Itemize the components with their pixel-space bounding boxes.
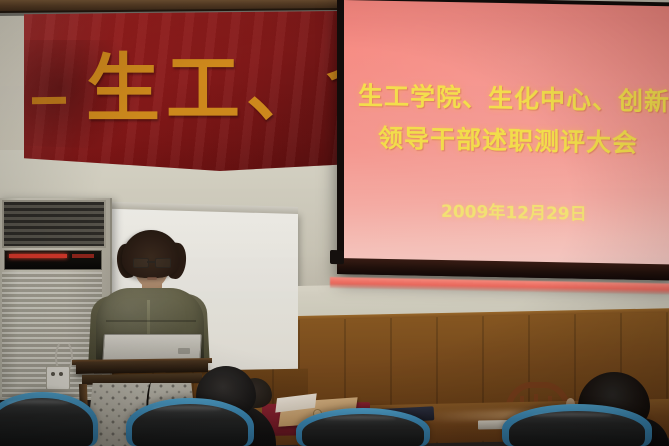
socket-hole xyxy=(51,372,55,376)
wooden-lectern xyxy=(76,360,208,374)
socket-hole xyxy=(59,372,63,376)
speaker-hair xyxy=(122,230,180,278)
auditorium-seat[interactable] xyxy=(126,398,254,446)
eyeglasses-icon xyxy=(133,258,170,266)
auditorium-seat[interactable] xyxy=(0,392,98,446)
speaker-mouth xyxy=(147,277,157,280)
laptop-logo xyxy=(178,348,190,354)
photo-scene: 生工、食 生工学院、生化中心、创新中心 领导干部述职测评大会 2009年12月2… xyxy=(0,0,669,446)
slide-title-line-2: 领导干部述职测评大会 xyxy=(378,119,638,160)
jacket-seam xyxy=(106,320,196,322)
seat-highlight xyxy=(152,406,222,412)
banner-dash-mark xyxy=(32,97,66,105)
projection-screen-end-cap xyxy=(330,250,344,264)
eyeglass-bridge xyxy=(147,261,155,263)
eyeglass-lens-right xyxy=(155,258,171,268)
eyeglass-lens-left xyxy=(133,258,149,268)
ac-vent-grille xyxy=(2,200,106,248)
slide-date: 2009年12月29日 xyxy=(441,197,587,225)
slide-title-line-1: 生工学院、生化中心、创新中心 xyxy=(358,76,669,119)
banner-text: 生工、食 xyxy=(86,30,356,150)
ac-led-readout-secondary xyxy=(72,254,94,258)
seat-highlight xyxy=(532,413,612,418)
projection-screen: 生工学院、生化中心、创新中心 领导干部述职测评大会 2009年12月29日 xyxy=(344,0,669,268)
wall-socket[interactable] xyxy=(46,366,70,390)
seat-highlight xyxy=(6,400,70,406)
ac-led-readout xyxy=(9,254,67,258)
auditorium-seat[interactable] xyxy=(296,408,430,446)
ac-display-panel[interactable] xyxy=(4,250,102,270)
seat-highlight xyxy=(324,416,396,421)
auditorium-seat[interactable] xyxy=(502,404,652,446)
